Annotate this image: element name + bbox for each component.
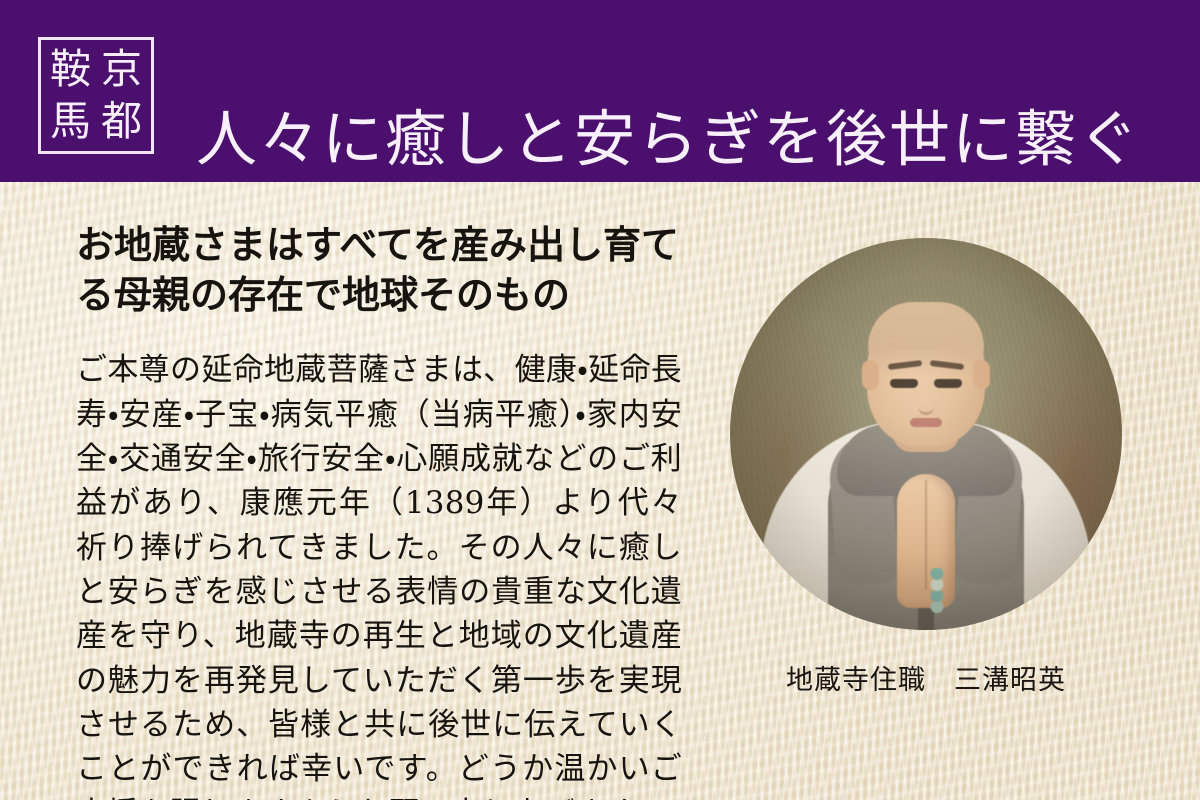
main-content: お地蔵さまはすべてを産み出し育てる母親の存在で地球そのもの ご本尊の延命地蔵菩薩… xyxy=(0,182,1200,800)
poster-root: 鞍 京 馬 都 人々に癒しと安らぎを後世に繋ぐ お地蔵さまはすべてを産み出し育て… xyxy=(0,0,1200,800)
portrait-photo xyxy=(730,238,1122,630)
body-copy: ご本尊の延命地蔵菩薩さまは、健康・延命長寿・安産・子宝・病気平癒（当病平癒）・家… xyxy=(76,320,682,800)
logo-char-ma: 馬 xyxy=(50,101,91,142)
portrait-caption: 地蔵寺住職 三溝昭英 xyxy=(730,630,1122,697)
lead-heading: お地蔵さまはすべてを産み出し育てる母親の存在で地球そのもの xyxy=(76,220,682,320)
portrait-color-wash xyxy=(730,238,1122,630)
header-band: 鞍 京 馬 都 人々に癒しと安らぎを後世に繋ぐ xyxy=(0,0,1200,182)
header-title: 人々に癒しと安らぎを後世に繋ぐ xyxy=(196,91,1141,177)
logo-char-to: 都 xyxy=(101,101,142,142)
logo-kyoto-kurama[interactable]: 鞍 京 馬 都 xyxy=(38,37,154,154)
portrait-figure: 地蔵寺住職 三溝昭英 xyxy=(730,238,1122,697)
logo-char-kyo: 京 xyxy=(101,49,142,90)
logo-char-kura: 鞍 xyxy=(50,49,91,90)
text-column: お地蔵さまはすべてを産み出し育てる母親の存在で地球そのもの ご本尊の延命地蔵菩薩… xyxy=(76,220,682,800)
